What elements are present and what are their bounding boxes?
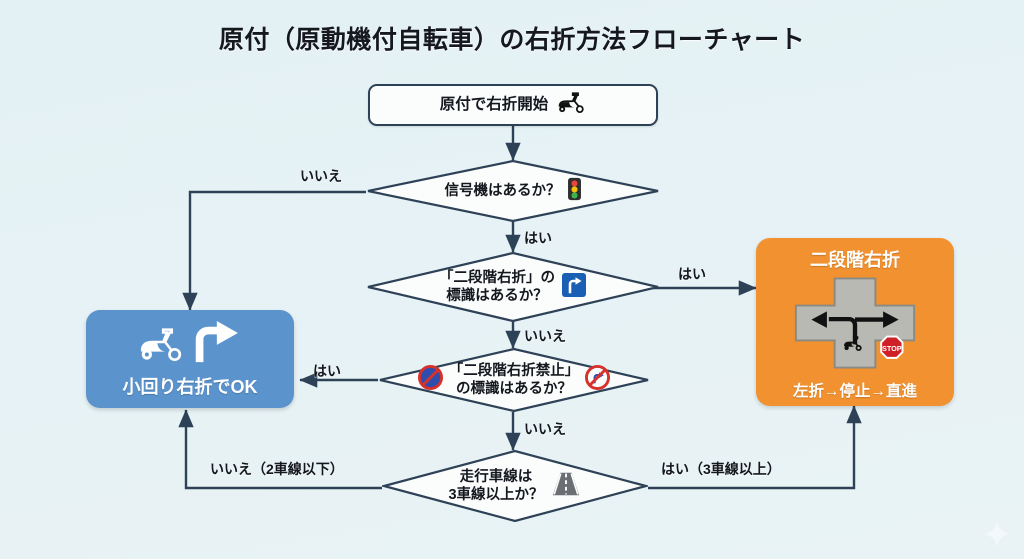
- flowchart-canvas: 原付（原動機付自転車）の右折方法フローチャート: [0, 0, 1024, 559]
- decision-line-1: 「二段階右折禁止」: [449, 363, 580, 379]
- decision-line-1: 走行車線は: [460, 469, 533, 485]
- decision-line-2: 標識はあるか？: [446, 288, 548, 304]
- result-two-stage-turn[interactable]: 二段階右折: [756, 238, 954, 406]
- decision-two-stage-prohibited-label: 「二段階右折禁止」 の標識はあるか？: [449, 362, 580, 398]
- motorway-icon: [550, 471, 582, 502]
- start-node[interactable]: 原付で右折開始: [368, 84, 658, 126]
- edge-label-two-stage-sign-yes: はい: [678, 264, 706, 284]
- traffic-light-icon: [567, 177, 582, 206]
- edge-label-prohibited-no: いいえ: [524, 419, 566, 439]
- decision-traffic-light[interactable]: 信号機はあるか？: [366, 160, 660, 222]
- edge-label-traffic-light-yes: はい: [524, 228, 552, 248]
- intersection-diagram-icon: STOP: [792, 276, 918, 375]
- start-node-label: 原付で右折開始: [440, 95, 549, 114]
- result-two-stage-turn-caption: 左折→停止→直進: [793, 379, 917, 401]
- decision-line-1: 「二段階右折」の: [439, 270, 555, 286]
- decision-two-stage-sign[interactable]: 「二段階右折」の 標識はあるか？: [366, 252, 660, 322]
- sparkle-watermark-icon: [984, 521, 1010, 547]
- scooter-icon: [556, 92, 586, 119]
- result-small-turn-title: 小回り右折でOK: [123, 373, 258, 399]
- decision-traffic-light-label: 信号機はあるか？: [445, 182, 561, 200]
- page-title: 原付（原動機付自転車）の右折方法フローチャート: [0, 20, 1024, 56]
- no-right-turn-sign-icon: [585, 365, 610, 395]
- result-two-stage-turn-title: 二段階右折: [810, 246, 900, 272]
- edge-label-lane-count-yes: はい（3車線以上）: [661, 459, 781, 479]
- blue-right-turn-sign-icon: [561, 272, 587, 303]
- edge-label-lane-count-no: いいえ（2車線以下）: [210, 459, 344, 479]
- scooter-right-turn-icon: [132, 320, 248, 371]
- edge-label-prohibited-yes: はい: [313, 361, 341, 381]
- decision-line-2: 3車線以上か？: [448, 487, 543, 503]
- edge-label-traffic-light-no: いいえ: [300, 166, 342, 186]
- decision-line-2: の標識はあるか？: [456, 381, 572, 397]
- svg-text:STOP: STOP: [882, 344, 902, 353]
- result-small-turn[interactable]: 小回り右折でOK: [86, 310, 294, 408]
- no-parking-sign-icon: [418, 365, 443, 395]
- decision-two-stage-prohibited[interactable]: 「二段階右折禁止」 の標識はあるか？: [378, 348, 650, 412]
- decision-lane-count[interactable]: 走行車線は 3車線以上か？: [382, 450, 648, 522]
- decision-lane-count-label: 走行車線は 3車線以上か？: [448, 468, 543, 504]
- decision-two-stage-sign-label: 「二段階右折」の 標識はあるか？: [439, 269, 555, 305]
- edge-label-two-stage-sign-no: いいえ: [524, 326, 566, 346]
